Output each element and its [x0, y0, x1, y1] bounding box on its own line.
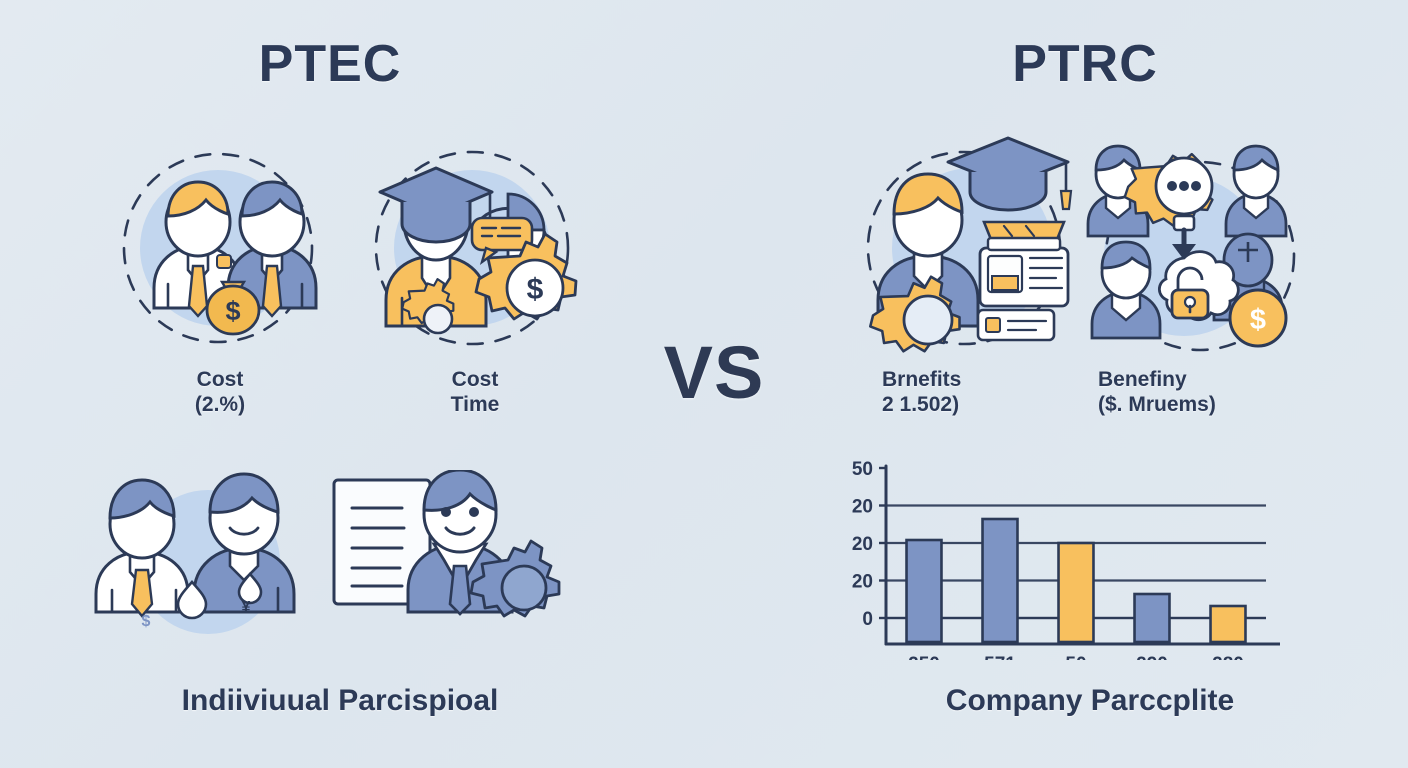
vs-divider-label: VS — [624, 330, 804, 415]
bar-chart-svg: 50202020025057150290280 — [840, 450, 1280, 660]
left-panel: $ Cost (2.%) — [60, 120, 620, 740]
tile-label-benefit-amount: Benefiny ($. Mruems) — [1080, 368, 1300, 418]
left-title: PTEC — [0, 34, 660, 94]
tile-label-cost-time: Cost Time — [360, 368, 590, 418]
left-caption: Indiiviuual Parcispioal — [60, 684, 620, 718]
x-tick-label: 50 — [1065, 654, 1086, 660]
svg-text:¥: ¥ — [242, 599, 251, 616]
y-tick-label: 20 — [852, 572, 873, 593]
graduate-gear-dollar-icon: $ — [360, 130, 590, 360]
right-panel: Brnefits 2 1.502) — [840, 120, 1340, 740]
tile-two-people-money: $ Cost (2.%) — [110, 130, 330, 360]
bar-chart: 50202020025057150290280 — [840, 450, 1280, 670]
y-tick-label: 20 — [852, 497, 873, 518]
tile-label-benefits: Brnefits 2 1.502) — [860, 368, 1080, 418]
bar — [983, 519, 1018, 642]
graduate-cap-documents-icon — [860, 130, 1080, 360]
bar — [1135, 594, 1170, 642]
document-person-gear-icon — [320, 470, 570, 640]
tile-document-person-gear — [320, 470, 570, 640]
x-tick-label: 571 — [984, 654, 1016, 660]
y-tick-label: 50 — [852, 459, 873, 480]
two-colleagues-icon: $ ¥ — [80, 470, 330, 640]
y-tick-label: 0 — [862, 609, 873, 630]
right-caption: Company Parccplite — [840, 684, 1340, 718]
bar — [1059, 543, 1094, 642]
x-tick-label: 280 — [1212, 654, 1244, 660]
tile-graduate-documents: Brnefits 2 1.502) — [860, 130, 1080, 360]
bar — [907, 540, 942, 642]
svg-text:$: $ — [1250, 304, 1266, 336]
people-money-bag-icon: $ — [110, 130, 330, 360]
bar — [1211, 606, 1246, 642]
tile-two-colleagues: $ ¥ — [80, 470, 330, 640]
y-tick-label: 20 — [852, 534, 873, 555]
svg-text:$: $ — [527, 273, 544, 306]
svg-text:$: $ — [142, 613, 151, 630]
tile-label-cost-percent: Cost (2.%) — [110, 368, 330, 418]
tile-team-security: $ Benefiny ($. Mruems) — [1080, 130, 1300, 360]
right-title: PTRC — [760, 34, 1408, 94]
tile-graduate-gears: $ Cost Time — [360, 130, 590, 360]
x-tick-label: 290 — [1136, 654, 1168, 660]
x-tick-label: 250 — [908, 654, 940, 660]
team-lock-coin-icon: $ — [1080, 130, 1300, 360]
infographic-canvas: PTEC PTRC VS — [0, 0, 1408, 768]
svg-text:$: $ — [225, 296, 240, 326]
